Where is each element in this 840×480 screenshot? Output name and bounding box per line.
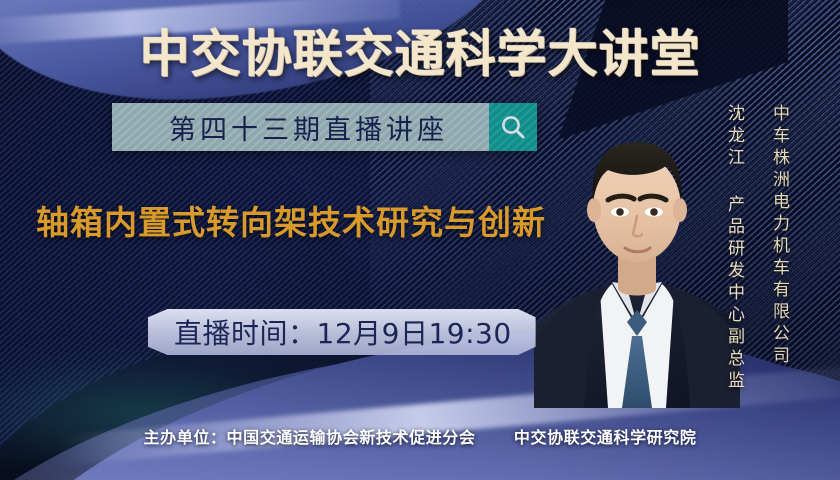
speaker-company: 中车株洲电力机车有限公司 [767,104,792,368]
search-input[interactable]: 第四十三期直播讲座 [112,103,489,151]
speaker-name-and-title: 沈龙江 产品研发中心副总监 [722,104,747,393]
broadcast-time-badge: 直播时间：12月9日19:30 [148,309,536,355]
search-button[interactable] [489,103,537,151]
speaker-portrait [534,96,740,408]
page-title: 中交协联交通科学大讲堂 [0,14,840,86]
broadcast-time-text: 直播时间：12月9日19:30 [174,312,512,352]
footer-institute: 中交协联交通科学研究院 [514,428,697,447]
footer-organizer-label: 主办单位：中国交通运输协会新技术促进分会 [144,428,476,447]
footer-organizers: 主办单位：中国交通运输协会新技术促进分会 中交协联交通科学研究院 [0,424,840,448]
lecture-topic-title: 轴箱内置式转向架技术研究与创新 [36,196,546,244]
search-bar[interactable]: 第四十三期直播讲座 [112,103,537,151]
search-icon [500,114,526,140]
live-lecture-poster: 中交协联交通科学大讲堂 第四十三期直播讲座 轴箱内置式转向架技术研究与创新 直播… [0,0,840,480]
search-input-value: 第四十三期直播讲座 [147,108,454,147]
